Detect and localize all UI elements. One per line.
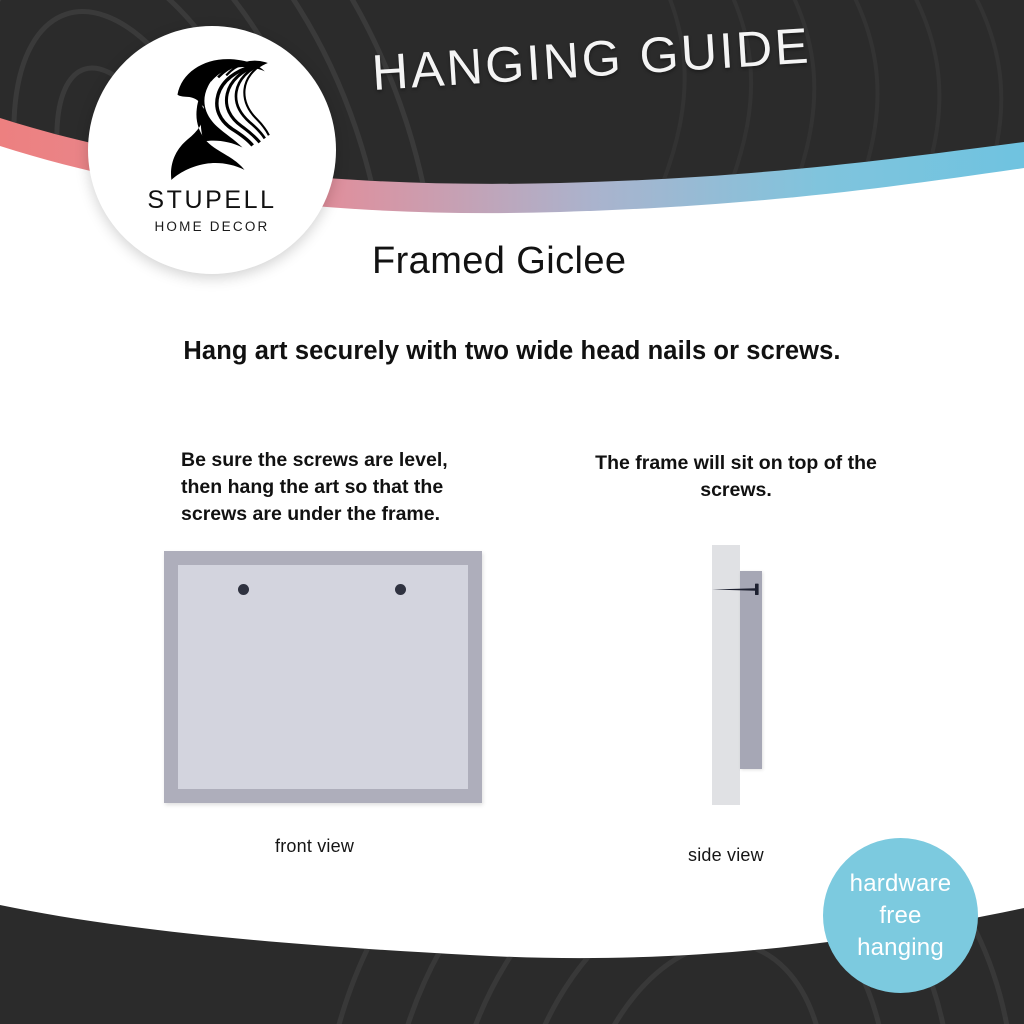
screw-dot-left-icon (238, 584, 249, 595)
side-view-frame-strip (740, 571, 762, 769)
page-title: HANGING GUIDE (370, 16, 812, 101)
brand-name: STUPELL (147, 186, 276, 215)
stupell-s-swoosh-logo-icon (151, 50, 273, 182)
hanging-guide-page: STUPELL HOME DECOR HANGING GUIDE Framed … (0, 0, 1024, 1024)
screw-dot-right-icon (395, 584, 406, 595)
brand-logo-badge: STUPELL HOME DECOR (88, 26, 336, 274)
hardware-free-hanging-badge: hardware free hanging (823, 838, 978, 993)
front-view-caption: Be sure the screws are level, then hang … (181, 447, 481, 528)
front-view-frame-diagram (164, 551, 482, 803)
badge-line-2: free (879, 900, 921, 932)
nail-in-wall-icon (710, 581, 768, 597)
side-view-caption: The frame will sit on top of the screws. (592, 450, 880, 504)
product-type-heading: Framed Giclee (372, 240, 626, 283)
badge-line-1: hardware (850, 868, 952, 900)
main-instruction-text: Hang art securely with two wide head nai… (0, 337, 1024, 366)
badge-line-3: hanging (857, 932, 944, 964)
side-view-label: side view (688, 845, 764, 866)
front-view-label: front view (275, 836, 354, 857)
front-view-art-mat (178, 565, 468, 789)
brand-subtitle: HOME DECOR (154, 219, 269, 234)
side-view-frame-diagram (700, 545, 780, 805)
